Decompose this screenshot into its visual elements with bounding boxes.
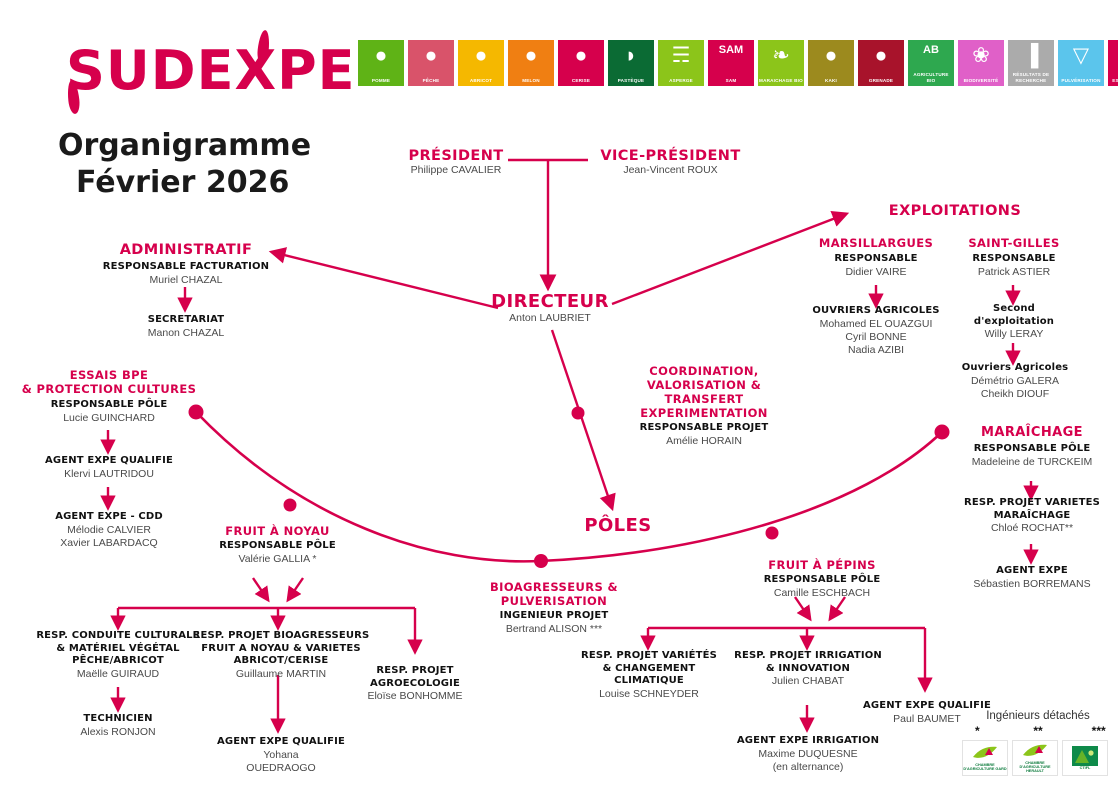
administratif-role-0: RESPONSABLE FACTURATION [92,261,280,274]
sprayer-icon-glyph: ▽ [1058,45,1104,66]
maraichage-title: MARAÎCHAGE [948,425,1116,440]
organic-veg-icon[interactable]: ❧MARAICHAGE BIO [758,40,804,86]
maraichage-person-2: Sébastien BORREMANS [948,578,1116,591]
fruit-pepins-c1-role: RESP. PROJET IRRIGATION& INNOVATION [730,650,886,675]
node-resp-projet-agroecologie: RESP. PROJETAGROECOLOGIE Eloïse BONHOMME [350,665,480,703]
maraichage-role-0: RESPONSABLE PÔLE [948,443,1116,456]
node-coordination: COORDINATION,VALORISATION &TRANSFERTEXPE… [604,364,804,448]
node-maraichage-agent-expe: AGENT EXPE Sébastien BORREMANS [948,565,1116,591]
icon-caption: RÉSULTATS DE RECHERCHE [1008,72,1054,83]
watermelon-icon[interactable]: ◗PASTÈQUE [608,40,654,86]
marsillargues-role-0: RESPONSABLE [806,253,946,266]
essais-bpe-role-1: AGENT EXPE QUALIFIE [25,455,193,468]
watermelon-icon-glyph: ◗ [608,45,654,66]
sudexpe-logo: SUDEXPE [60,22,350,102]
node-saint-gilles: SAINT-GILLES RESPONSABLE Patrick ASTIER [952,236,1076,279]
saint-gilles-title: SAINT-GILLES [952,236,1076,250]
node-vice-president: VICE-PRÉSIDENT Jean-Vincent ROUX [588,148,753,177]
peach-icon[interactable]: ●PÊCHE [408,40,454,86]
poles-label: PÔLES [558,515,678,536]
bar-chart-icon-glyph: ▐ [1008,45,1054,66]
sprayer-icon[interactable]: ▽PULVÉRISATION [1058,40,1104,86]
icon-caption: ESSAIS PRIVÉS [1108,78,1118,83]
asparagus-icon-glyph: ☴ [658,45,704,66]
fruit-noyau-c0-role: RESP. CONDUITE CULTURALE& MATÉRIEL VÉGÉT… [32,630,204,668]
cherry-icon-glyph: ● [558,45,604,66]
coordination-person: Amélie HORAIN [604,435,804,448]
product-icon-strip: ●POMME●PÊCHE●ABRICOT●MELON●CERISE◗PASTÈQ… [358,40,1118,86]
icon-caption: PASTÈQUE [608,78,654,83]
icon-caption: BIODIVERSITÉ [958,78,1004,83]
handshake-icon[interactable]: ✋ESSAIS PRIVÉS [1108,40,1118,86]
node-agent-expe-irrigation: AGENT EXPE IRRIGATION Maxime DUQUESNE(en… [730,735,886,774]
asparagus-icon[interactable]: ☴ASPERGE [658,40,704,86]
saint-gilles-person-1: Willy LERAY [958,328,1070,341]
saint-gilles-person-0: Patrick ASTIER [952,266,1076,279]
footer-logo-name: CTIFL [1080,766,1091,770]
footer-partner-logos: CHAMBRE D'AGRICULTURE GARDCHAMBRE D'AGRI… [962,740,1114,776]
saint-gilles-person-2: Démétrio GALERACheikh DIOUF [950,375,1080,402]
melon-icon[interactable]: ●MELON [508,40,554,86]
vice-president-title: VICE-PRÉSIDENT [588,148,753,164]
node-marsillargues: MARSILLARGUES RESPONSABLE Didier VAIRE [806,236,946,279]
icon-caption: MELON [508,78,554,83]
exploitations-title: EXPLOITATIONS [855,203,1055,219]
node-secretariat: SECRETARIAT Manon CHAZAL [120,314,252,340]
fruit-noyau-c2-role: RESP. PROJETAGROECOLOGIE [350,665,480,690]
sam-logo-icon[interactable]: SAMSAM [708,40,754,86]
page-title: Organigramme Février 2026 [58,128,311,201]
bioagresseurs-head-role: INGENIEUR PROJET [454,610,654,623]
fruit-noyau-title: FRUIT À NOYAU [200,524,355,538]
apricot-icon-glyph: ● [458,45,504,66]
fruit-pepins-c1-child-person: Maxime DUQUESNE(en alternance) [730,748,886,775]
fruit-noyau-c1-role: RESP. PROJET BIOAGRESSEURSFRUIT A NOYAU … [192,630,370,668]
ab-label-icon[interactable]: ABAGRICULTURE BIO [908,40,954,86]
node-resp-projet-varietes-climat: RESP. PROJET VARIÉTÉS& CHANGEMENTCLIMATI… [570,650,728,701]
bioagresseurs-head-person: Bertrand ALISON *** [454,623,654,636]
fruit-pepins-c0-person: Louise SCHNEYDER [570,688,728,701]
fruit-noyau-head-role: RESPONSABLE PÔLE [200,540,355,553]
fruit-pepins-c0-role: RESP. PROJET VARIÉTÉS& CHANGEMENTCLIMATI… [570,650,728,688]
coordination-title: COORDINATION,VALORISATION &TRANSFERTEXPE… [604,364,804,420]
fruit-noyau-head-person: Valérie GALLIA * [200,553,355,566]
fruit-noyau-c1-child-role: AGENT EXPE QUALIFIE [212,736,350,749]
node-maraichage-resp-varietes: RESP. PROJET VARIETESMARAÎCHAGE Chloé RO… [948,497,1116,535]
cherry-icon[interactable]: ●CERISE [558,40,604,86]
node-agent-expe-qualifie-noyau: AGENT EXPE QUALIFIE YohanaOUEDRAOGO [212,736,350,775]
directeur-title: DIRECTEUR [478,291,622,312]
essais-bpe-person-0: Lucie GUINCHARD [14,412,204,425]
footer-logo-name: CHAMBRE D'AGRICULTURE GARD [963,763,1007,771]
fruit-pepins-head-person: Camille ESCHBACH [742,587,902,600]
sam-logo-icon-glyph: SAM [708,45,754,56]
pomegranate-icon-glyph: ● [858,45,904,66]
marsillargues-role-1: OUVRIERS AGRICOLES [800,305,952,318]
bee-icon-glyph: ❀ [958,45,1004,66]
saint-gilles-role-1: Secondd'exploitation [958,303,1070,328]
node-pole-bioagresseurs: BIOAGRESSEURS &PULVERISATION INGENIEUR P… [454,580,654,636]
president-person: Philippe CAVALIER [386,164,526,177]
saint-gilles-role-2: Ouvriers Agricoles [950,362,1080,375]
marsillargues-person-0: Didier VAIRE [806,266,946,279]
footer-logo-name: CHAMBRE D'AGRICULTURE HERAULT [1013,761,1057,774]
node-technicien: TECHNICIEN Alexis RONJON [52,713,184,739]
chambre-agriculture-gard-logo: CHAMBRE D'AGRICULTURE GARD [962,740,1008,776]
node-pole-essais-bpe: ESSAIS BPE& PROTECTION CULTURES RESPONSA… [14,368,204,425]
footer-mark: ** [1023,724,1054,738]
node-resp-projet-bioagresseurs: RESP. PROJET BIOAGRESSEURSFRUIT A NOYAU … [192,630,370,681]
node-marsillargues-ouvriers: OUVRIERS AGRICOLES Mohamed EL OUAZGUICyr… [800,305,952,358]
coordination-role: RESPONSABLE PROJET [604,422,804,435]
directeur-person: Anton LAUBRIET [478,312,622,325]
ab-label-icon-glyph: AB [908,45,954,56]
administratif-person-0: Muriel CHAZAL [92,274,280,287]
handshake-icon-glyph: ✋ [1108,45,1118,66]
maraichage-role-2: AGENT EXPE [948,565,1116,578]
essais-bpe-person-2: Mélodie CALVIERXavier LABARDACQ [25,524,193,551]
icon-caption: PÊCHE [408,78,454,83]
maraichage-role-1: RESP. PROJET VARIETESMARAÎCHAGE [948,497,1116,522]
essais-bpe-role-0: RESPONSABLE PÔLE [14,399,204,412]
node-exploitations: EXPLOITATIONS [855,203,1055,219]
org-chart-poster: SUDEXPE ●POMME●PÊCHE●ABRICOT●MELON●CERIS… [0,0,1118,787]
node-pole-fruit-a-pepins: FRUIT À PÉPINS RESPONSABLE PÔLE Camille … [742,558,902,600]
marsillargues-person-1: Mohamed EL OUAZGUICyril BONNENadia AZIBI [800,318,952,358]
maraichage-person-0: Madeleine de TURCKEIM [948,456,1116,469]
icon-caption: CERISE [558,78,604,83]
vice-president-person: Jean-Vincent ROUX [588,164,753,177]
bee-icon[interactable]: ❀BIODIVERSITÉ [958,40,1004,86]
ctifl-logo: CTIFL [1062,740,1108,776]
essais-bpe-person-1: Klervi LAUTRIDOU [25,468,193,481]
footer-mark: * [962,724,993,738]
fruit-noyau-c0-child-person: Alexis RONJON [52,726,184,739]
icon-caption: SAM [708,78,754,83]
apple-icon[interactable]: ●POMME [358,40,404,86]
chambre-agriculture-herault-logo: CHAMBRE D'AGRICULTURE HERAULT [1012,740,1058,776]
bar-chart-icon[interactable]: ▐RÉSULTATS DE RECHERCHE [1008,40,1054,86]
node-pole-fruit-a-noyau: FRUIT À NOYAU RESPONSABLE PÔLE Valérie G… [200,524,355,566]
footer-mark: *** [1083,724,1114,738]
marsillargues-title: MARSILLARGUES [806,236,946,250]
fruit-noyau-c0-person: Maëlle GUIRAUD [32,668,204,681]
fruit-pepins-c1-child-role: AGENT EXPE IRRIGATION [730,735,886,748]
persimmon-icon[interactable]: ●KAKI [808,40,854,86]
saint-gilles-role-0: RESPONSABLE [952,253,1076,266]
administratif-role-1: SECRETARIAT [120,314,252,327]
logo-wordmark: SUDEXPE [66,44,356,98]
persimmon-icon-glyph: ● [808,45,854,66]
node-administratif: ADMINISTRATIF RESPONSABLE FACTURATION Mu… [92,242,280,287]
apple-icon-glyph: ● [358,45,404,66]
fruit-pepins-c1-person: Julien CHABAT [730,675,886,688]
node-directeur: DIRECTEUR Anton LAUBRIET [478,291,622,325]
node-saint-gilles-ouvriers: Ouvriers Agricoles Démétrio GALERACheikh… [950,362,1080,401]
page-title-line1: Organigramme [58,128,311,163]
administratif-person-1: Manon CHAZAL [120,327,252,340]
footer-detached-engineers: Ingénieurs détachés ****** CHAMBRE D'AGR… [962,710,1114,776]
icon-caption: AGRICULTURE BIO [908,72,954,83]
fruit-noyau-c1-child-person: YohanaOUEDRAOGO [212,749,350,776]
fruit-noyau-c2-person: Eloïse BONHOMME [350,690,480,703]
apricot-icon[interactable]: ●ABRICOT [458,40,504,86]
footer-title: Ingénieurs détachés [962,710,1114,722]
node-saint-gilles-second: Secondd'exploitation Willy LERAY [958,303,1070,341]
node-resp-projet-irrigation: RESP. PROJET IRRIGATION& INNOVATION Juli… [730,650,886,688]
icon-caption: KAKI [808,78,854,83]
essais-bpe-role-2: AGENT EXPE - CDD [25,511,193,524]
melon-icon-glyph: ● [508,45,554,66]
fruit-pepins-head-role: RESPONSABLE PÔLE [742,574,902,587]
page-title-line2: Février 2026 [58,165,311,202]
fruit-pepins-title: FRUIT À PÉPINS [742,558,902,572]
icon-caption: POMME [358,78,404,83]
icon-caption: GRENADE [858,78,904,83]
fruit-noyau-c1-person: Guillaume MARTIN [192,668,370,681]
icon-caption: ABRICOT [458,78,504,83]
organic-veg-icon-glyph: ❧ [758,45,804,66]
pomegranate-icon[interactable]: ●GRENADE [858,40,904,86]
node-pole-maraichage: MARAÎCHAGE RESPONSABLE PÔLE Madeleine de… [948,425,1116,469]
node-president: PRÉSIDENT Philippe CAVALIER [386,148,526,177]
node-essais-bpe-agent-cdd: AGENT EXPE - CDD Mélodie CALVIERXavier L… [25,511,193,550]
essais-bpe-title: ESSAIS BPE& PROTECTION CULTURES [14,368,204,396]
icon-caption: PULVÉRISATION [1058,78,1104,83]
icon-caption: MARAICHAGE BIO [758,78,804,83]
president-title: PRÉSIDENT [386,148,526,164]
peach-icon-glyph: ● [408,45,454,66]
poles-label-text: PÔLES [558,515,678,536]
maraichage-person-1: Chloé ROCHAT** [948,522,1116,535]
icon-caption: ASPERGE [658,78,704,83]
node-resp-conduite-culturale: RESP. CONDUITE CULTURALE& MATÉRIEL VÉGÉT… [32,630,204,681]
node-essais-bpe-agent-qualifie: AGENT EXPE QUALIFIE Klervi LAUTRIDOU [25,455,193,481]
administratif-title: ADMINISTRATIF [92,242,280,258]
bioagresseurs-title: BIOAGRESSEURS &PULVERISATION [454,580,654,608]
fruit-noyau-c0-child-role: TECHNICIEN [52,713,184,726]
footer-marks: ****** [962,724,1114,738]
